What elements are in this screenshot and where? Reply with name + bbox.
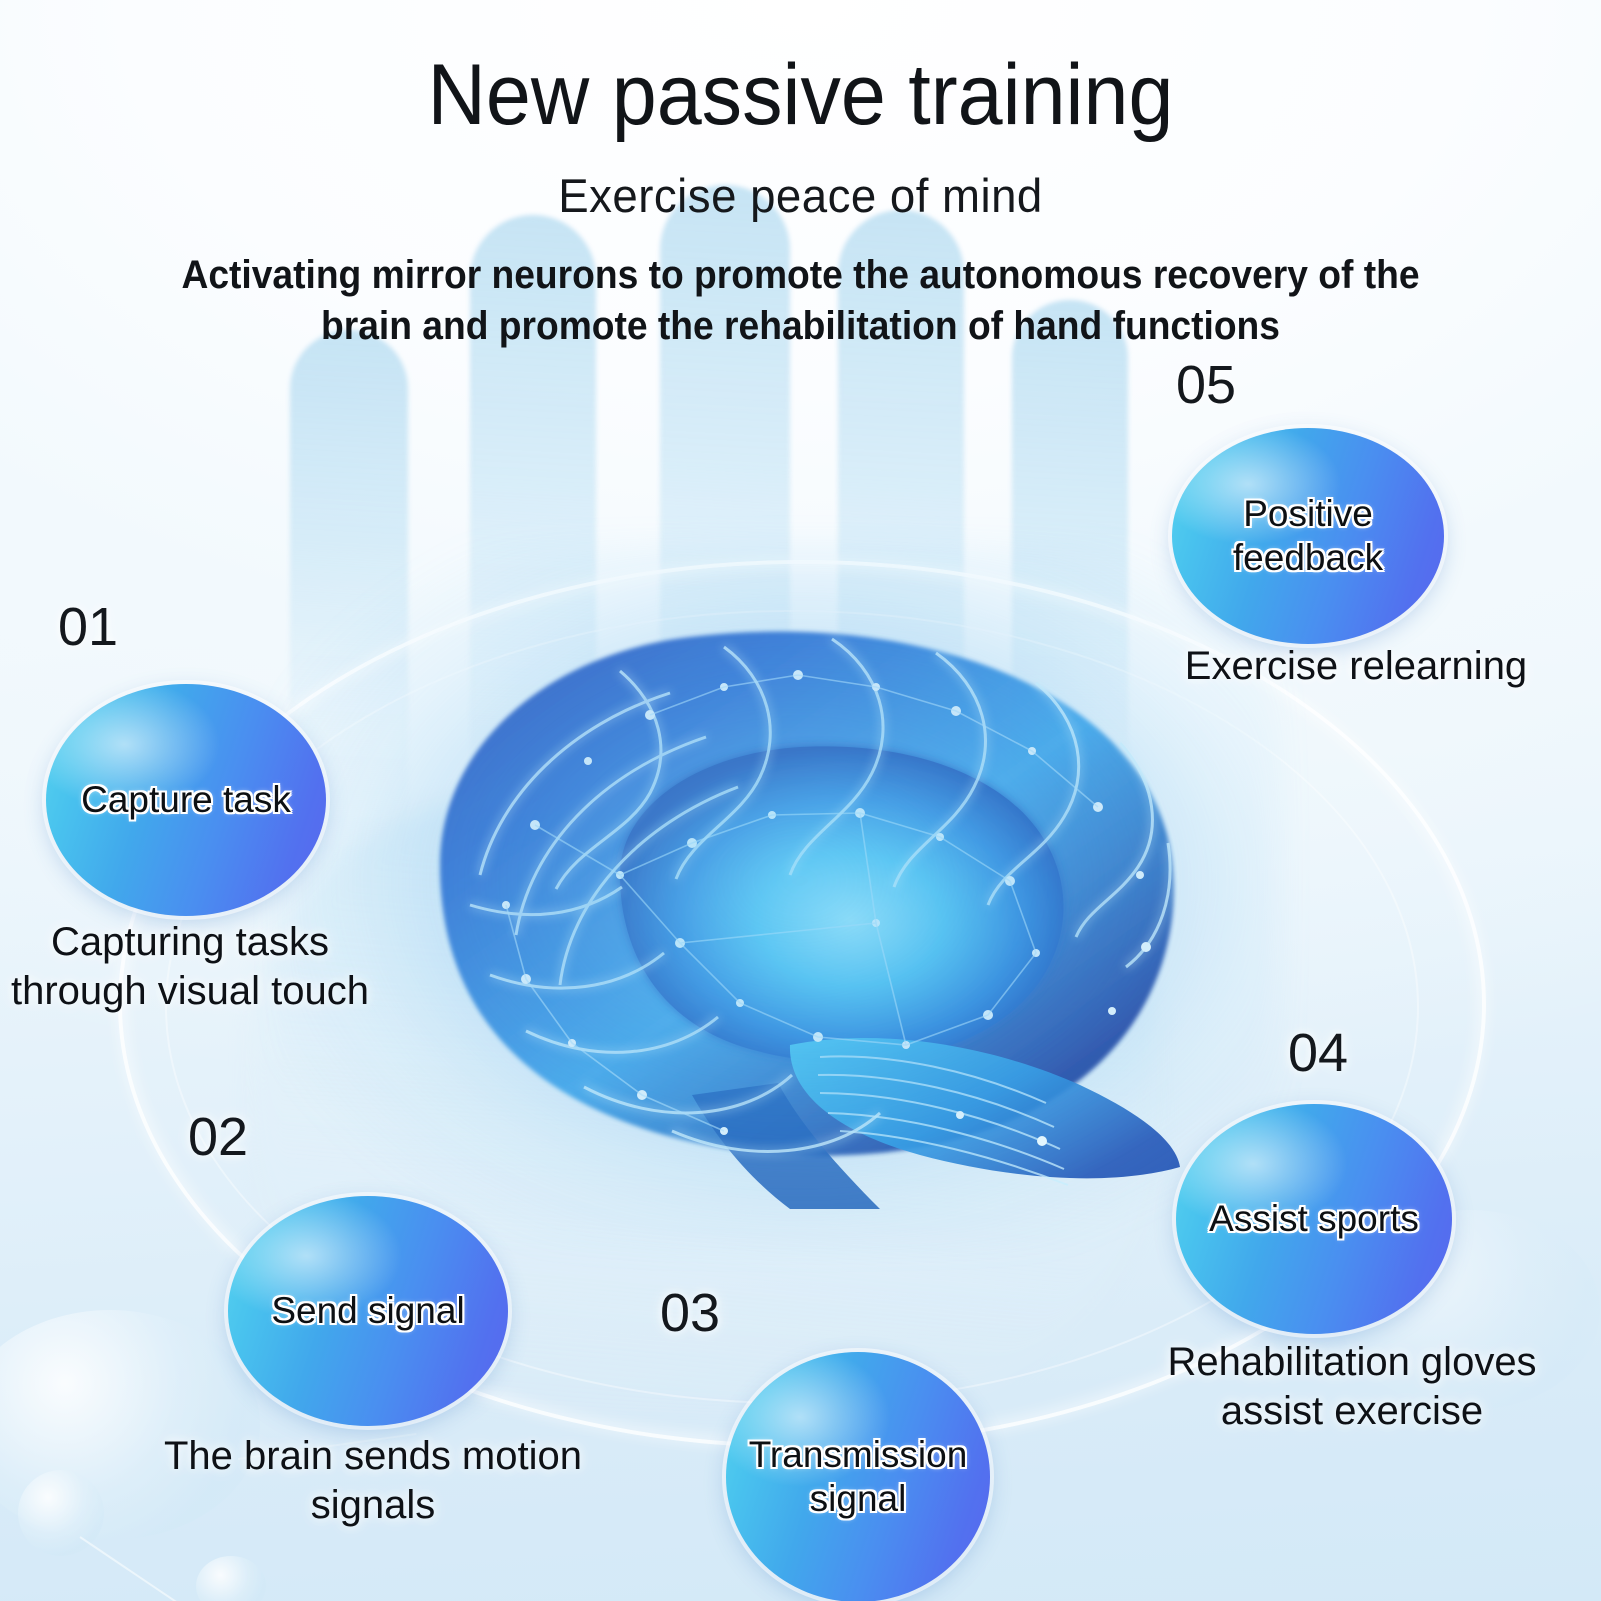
step-caption-05: Exercise relearning <box>1146 642 1566 691</box>
step-number-03: 03 <box>660 1286 720 1340</box>
step-bubble-02[interactable]: Send signal <box>228 1196 508 1426</box>
step-caption-04: Rehabilitation gloves assist exercise <box>1118 1338 1586 1436</box>
step-bubble-label-04: Assist sports <box>1193 1197 1435 1241</box>
step-bubble-03[interactable]: Transmission signal <box>726 1352 990 1601</box>
step-bubble-label-03: Transmission signal <box>726 1433 990 1520</box>
page-subtitle: Exercise peace of mind <box>24 172 1577 219</box>
decor-molecule-node-b <box>196 1556 266 1601</box>
page-title: New passive training <box>48 52 1553 138</box>
step-number-05: 05 <box>1176 358 1236 412</box>
brain-glow <box>280 545 1280 1245</box>
step-caption-02: The brain sends motion signals <box>108 1432 638 1530</box>
step-bubble-05[interactable]: Positive feedback <box>1172 428 1444 644</box>
infographic-poster: New passive training Exercise peace of m… <box>0 0 1601 1601</box>
step-caption-01: Capturing tasks through visual touch <box>10 918 370 1016</box>
step-bubble-04[interactable]: Assist sports <box>1176 1104 1452 1334</box>
step-number-02: 02 <box>188 1110 248 1164</box>
decor-molecule-node-a <box>18 1470 104 1556</box>
brain-illustration <box>320 575 1240 1215</box>
step-bubble-label-01: Capture task <box>65 778 307 822</box>
decor-molecule-bond-a <box>79 1536 204 1601</box>
step-bubble-label-02: Send signal <box>255 1289 480 1333</box>
step-bubble-label-05: Positive feedback <box>1172 492 1444 579</box>
step-number-04: 04 <box>1288 1026 1348 1080</box>
step-number-01: 01 <box>58 600 118 654</box>
step-bubble-01[interactable]: Capture task <box>46 684 326 916</box>
page-lede: Activating mirror neurons to promote the… <box>177 250 1424 352</box>
